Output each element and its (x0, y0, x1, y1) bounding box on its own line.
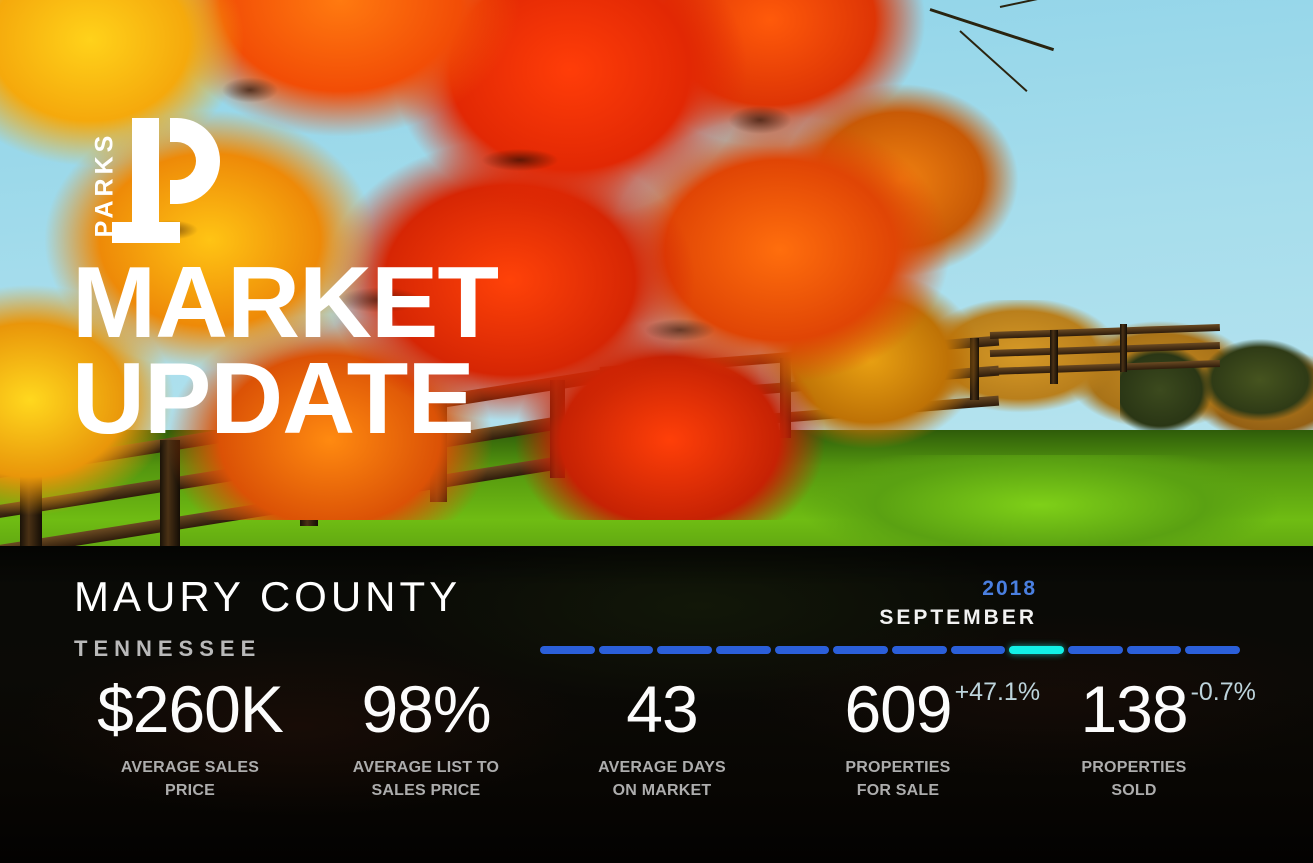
stat-value: 138 (1080, 676, 1187, 742)
month-bar-july[interactable] (892, 646, 947, 654)
parks-logo[interactable]: PARKS (72, 118, 232, 243)
month-timeline[interactable] (540, 646, 1240, 654)
location-block: MAURY COUNTY TENNESSEE (74, 576, 461, 660)
stat-delta: -0.7% (1191, 680, 1256, 705)
stat-label-line-1: AVERAGE LIST TO (308, 756, 544, 779)
month-bar-november[interactable] (1127, 646, 1182, 654)
stat-card-0: $260KAVERAGE SALESPRICE (72, 676, 308, 802)
month-bar-may[interactable] (775, 646, 830, 654)
stat-value-group: 43 (626, 676, 697, 742)
stat-value-group: $260K (97, 676, 283, 742)
stat-label-line-1: AVERAGE SALES (72, 756, 308, 779)
month-bar-january[interactable] (540, 646, 595, 654)
poster-headline: MARKET UPDATE (72, 256, 498, 448)
month-bar-october[interactable] (1068, 646, 1123, 654)
market-update-poster: PARKS MARKET UPDATE MAURY COUNTY TENNESS… (0, 0, 1313, 863)
stat-label-line-2: FOR SALE (780, 779, 1016, 802)
stat-value: 43 (626, 676, 697, 742)
stat-card-4: 138-0.7%PROPERTIESSOLD (1016, 676, 1252, 802)
period-block: 2018 SEPTEMBER (540, 578, 1240, 654)
stat-label-line-2: SALES PRICE (308, 779, 544, 802)
county-name: MAURY COUNTY (74, 576, 461, 618)
period-year: 2018 (540, 578, 1240, 599)
stat-card-3: 609+47.1%PROPERTIESFOR SALE (780, 676, 1016, 802)
stat-value: $260K (97, 676, 283, 742)
parks-p-monogram-icon (112, 118, 232, 243)
stat-label: AVERAGE DAYSON MARKET (544, 756, 780, 802)
month-bar-april[interactable] (716, 646, 771, 654)
stat-value-group: 138-0.7% (1080, 676, 1187, 742)
month-bar-february[interactable] (599, 646, 654, 654)
stat-label: AVERAGE SALESPRICE (72, 756, 308, 802)
stat-card-1: 98%AVERAGE LIST TOSALES PRICE (308, 676, 544, 802)
month-bar-june[interactable] (833, 646, 888, 654)
stat-label-line-1: AVERAGE DAYS (544, 756, 780, 779)
month-bar-august[interactable] (951, 646, 1006, 654)
stat-label-line-1: PROPERTIES (1016, 756, 1252, 779)
stats-row: $260KAVERAGE SALESPRICE98%AVERAGE LIST T… (72, 676, 1252, 802)
stat-label: PROPERTIESFOR SALE (780, 756, 1016, 802)
state-name: TENNESSEE (74, 638, 461, 660)
month-bar-september[interactable] (1009, 646, 1064, 654)
stat-value-group: 98% (361, 676, 490, 742)
stat-value-group: 609+47.1% (844, 676, 951, 742)
stat-label-line-2: SOLD (1016, 779, 1252, 802)
headline-line-2: UPDATE (72, 352, 498, 448)
stat-value: 98% (361, 676, 490, 742)
month-bar-december[interactable] (1185, 646, 1240, 654)
headline-line-1: MARKET (72, 256, 498, 352)
stat-label-line-2: ON MARKET (544, 779, 780, 802)
stat-value: 609 (844, 676, 951, 742)
period-month: SEPTEMBER (540, 607, 1240, 628)
stat-card-2: 43AVERAGE DAYSON MARKET (544, 676, 780, 802)
stat-label: PROPERTIESSOLD (1016, 756, 1252, 802)
month-bar-march[interactable] (657, 646, 712, 654)
stat-label-line-2: PRICE (72, 779, 308, 802)
stat-label-line-1: PROPERTIES (780, 756, 1016, 779)
stat-label: AVERAGE LIST TOSALES PRICE (308, 756, 544, 802)
